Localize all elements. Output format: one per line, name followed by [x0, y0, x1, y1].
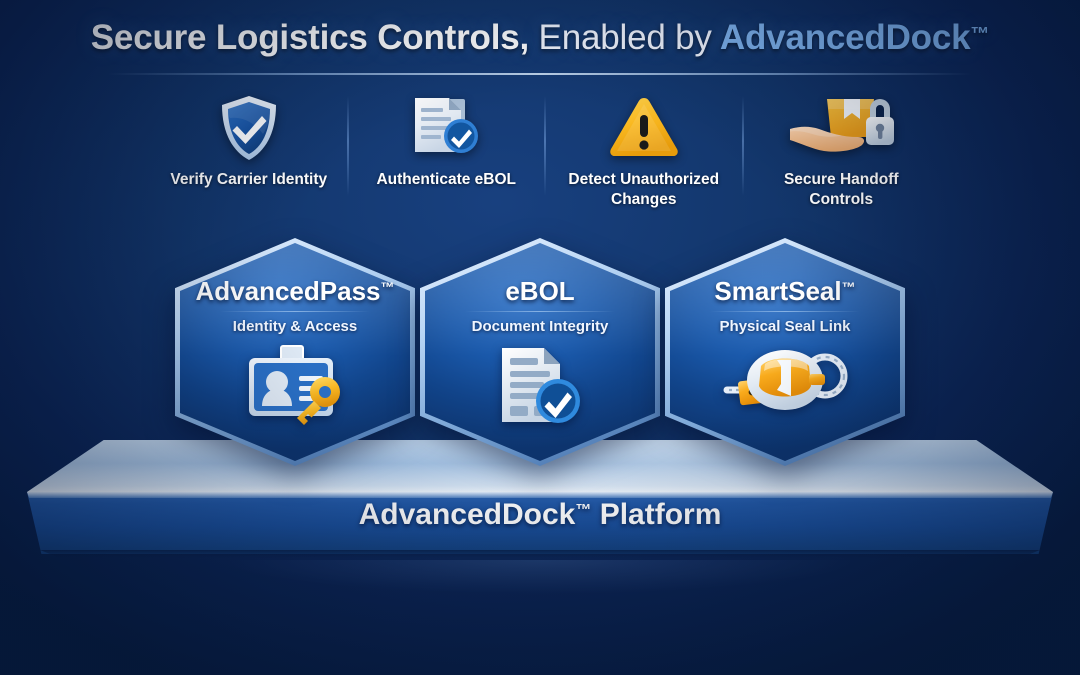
document-check-icon [409, 92, 483, 164]
platform-label: AdvancedDock™ Platform [0, 498, 1080, 532]
feature-label: Secure Handoff Controls [756, 170, 926, 210]
pillar-card-smartseal[interactable]: SmartSeal™ Physical Seal Link [665, 238, 905, 466]
pillar-card-ebol[interactable]: eBOL Document Integrity [420, 238, 660, 466]
pillar-card-advancedpass[interactable]: AdvancedPass™ Identity & Access [175, 238, 415, 466]
feature-label: Detect Unauthorized Changes [559, 170, 729, 210]
feature-item-secure-handoff-controls[interactable]: Secure Handoff Controls [743, 92, 941, 220]
pillar-card-row: AdvancedPass™ Identity & Access [175, 238, 905, 466]
document-check-seal-icon [488, 344, 592, 433]
page-title: Secure Logistics Controls, Enabled by Ad… [0, 18, 1080, 58]
pillar-card-title: eBOL [505, 278, 574, 304]
pillar-card-subtitle: Document Integrity [472, 318, 609, 335]
pillar-card-divider [710, 311, 860, 312]
page-title-primary: Secure Logistics Controls, [91, 18, 529, 57]
pillar-card-subtitle: Physical Seal Link [720, 318, 851, 335]
pillar-card-title: AdvancedPass™ [196, 278, 395, 304]
feature-item-verify-carrier-identity[interactable]: Verify Carrier Identity [150, 92, 348, 220]
pillar-card-divider [465, 311, 615, 312]
pillar-card-divider [220, 311, 370, 312]
page-title-secondary: Enabled by [539, 18, 712, 57]
feature-strip: Verify Carrier Identity [150, 92, 940, 220]
warning-triangle-icon [607, 92, 681, 164]
pillar-card-subtitle: Identity & Access [233, 318, 358, 335]
header-divider [108, 73, 972, 75]
page-title-brand-tm: ™ [970, 24, 989, 45]
smart-seal-tag-icon [721, 344, 849, 423]
feature-label: Authenticate eBOL [376, 170, 516, 190]
id-badge-key-icon [243, 344, 347, 433]
feature-label: Verify Carrier Identity [170, 170, 327, 190]
shield-check-icon [218, 92, 280, 164]
header: Secure Logistics Controls, Enabled by Ad… [0, 18, 1080, 58]
pillar-card-title: SmartSeal™ [714, 278, 855, 304]
page-title-brand: AdvancedDock [720, 18, 970, 57]
feature-item-authenticate-ebol[interactable]: Authenticate eBOL [348, 92, 546, 220]
slab-bottom-shadow [40, 550, 1040, 558]
infographic-canvas: Secure Logistics Controls, Enabled by Ad… [0, 0, 1080, 675]
feature-item-detect-unauthorized-changes[interactable]: Detect Unauthorized Changes [545, 92, 743, 220]
hand-package-lock-icon [786, 92, 896, 164]
